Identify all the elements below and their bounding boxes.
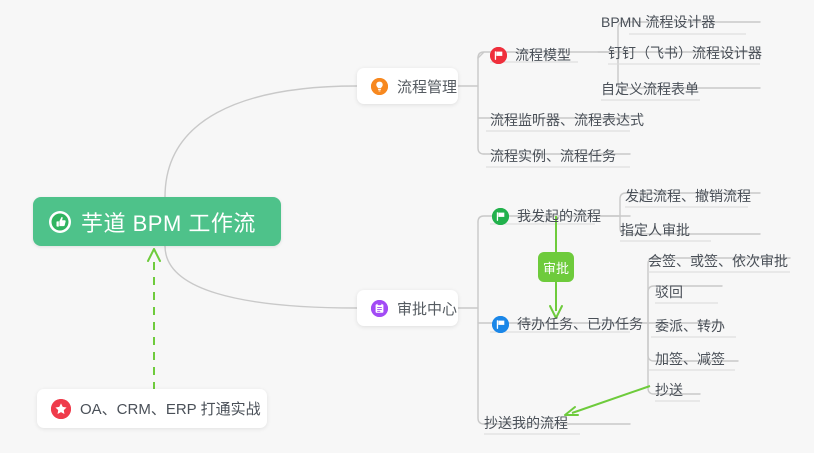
arrow-cc-to-ccmine bbox=[572, 386, 650, 413]
branch-label-process-management: 流程管理 bbox=[397, 76, 457, 97]
node-my-started-process[interactable]: 我发起的流程 bbox=[492, 203, 601, 229]
branch-label-approval-center: 审批中心 bbox=[397, 298, 457, 319]
label-my-started-process: 我发起的流程 bbox=[517, 206, 601, 226]
mindmap-canvas: 芋道 BPM 工作流 流程管理 审批中心 bbox=[0, 0, 814, 453]
label-process-model: 流程模型 bbox=[515, 45, 571, 65]
leaf-addsign-subsign[interactable]: 加签、减签 bbox=[655, 347, 725, 371]
leaf-custom-form[interactable]: 自定义流程表单 bbox=[601, 77, 699, 101]
star-icon bbox=[51, 399, 71, 419]
branch-node-approval-center[interactable]: 审批中心 bbox=[357, 290, 458, 326]
clipboard-icon bbox=[371, 300, 388, 317]
node-todo-done-tasks[interactable]: 待办任务、已办任务 bbox=[492, 311, 643, 337]
green-flag-icon bbox=[492, 208, 509, 225]
annotation-chip-approval[interactable]: 审批 bbox=[538, 252, 574, 282]
leaf-cc-my-process[interactable]: 抄送我的流程 bbox=[484, 411, 568, 435]
leaf-process-listener[interactable]: 流程监听器、流程表达式 bbox=[490, 108, 644, 132]
arrowhead-footer-to-root bbox=[148, 249, 160, 261]
blue-flag-icon bbox=[492, 316, 509, 333]
edge-root-to-approval-center bbox=[165, 246, 357, 308]
red-flag-icon bbox=[490, 47, 507, 64]
edge-pm-bracket bbox=[478, 58, 484, 154]
leaf-reject[interactable]: 驳回 bbox=[655, 280, 683, 304]
leaf-initiate-cancel[interactable]: 发起流程、撤销流程 bbox=[625, 184, 751, 208]
thumbs-up-icon bbox=[49, 211, 71, 233]
node-process-model[interactable]: 流程模型 bbox=[490, 42, 571, 68]
branch-node-process-management[interactable]: 流程管理 bbox=[357, 68, 458, 104]
edge-ac-bracket bbox=[478, 222, 484, 424]
leaf-countersign[interactable]: 会签、或签、依次审批 bbox=[648, 249, 788, 273]
leaf-delegate-transfer[interactable]: 委派、转办 bbox=[655, 314, 725, 338]
leaf-bpmn-designer[interactable]: BPMN 流程设计器 bbox=[601, 10, 715, 34]
leaf-assignee-approval[interactable]: 指定人审批 bbox=[620, 218, 690, 242]
annotation-chip-label: 审批 bbox=[543, 258, 569, 277]
label-todo-done-tasks: 待办任务、已办任务 bbox=[517, 314, 643, 334]
leaf-dingtalk-designer[interactable]: 钉钉（飞书）流程设计器 bbox=[608, 41, 762, 65]
leaf-process-instance[interactable]: 流程实例、流程任务 bbox=[490, 144, 616, 168]
footer-card-integration[interactable]: OA、CRM、ERP 打通实战 bbox=[37, 389, 267, 428]
edge-root-to-process-management bbox=[165, 86, 357, 197]
root-label: 芋道 BPM 工作流 bbox=[81, 206, 256, 238]
footer-card-label: OA、CRM、ERP 打通实战 bbox=[80, 398, 261, 419]
lightbulb-icon bbox=[371, 78, 388, 95]
root-node[interactable]: 芋道 BPM 工作流 bbox=[33, 197, 281, 246]
leaf-carbon-copy[interactable]: 抄送 bbox=[655, 378, 683, 402]
